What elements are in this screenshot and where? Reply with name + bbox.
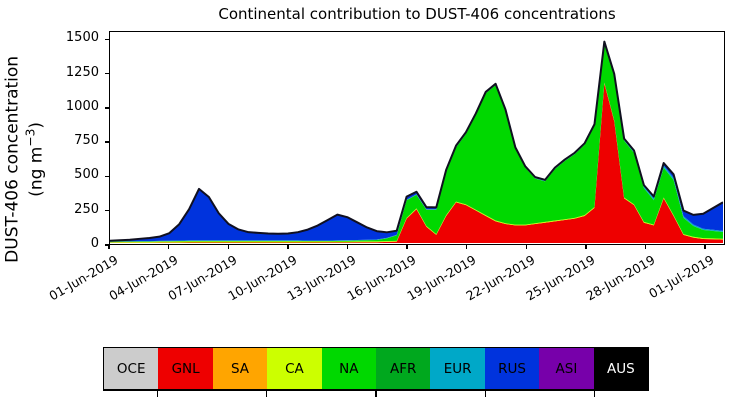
x-tick-mark [585, 245, 586, 249]
y-tick-label: 1000 [37, 99, 99, 114]
legend-tick [157, 390, 158, 397]
legend-item-oce[interactable]: OCE [104, 348, 158, 389]
legend-item-rus[interactable]: RUS [485, 348, 539, 389]
legend-tick [375, 390, 376, 397]
x-tick-mark [704, 245, 705, 249]
x-tick-mark [466, 245, 467, 249]
y-tick-label: 1500 [37, 30, 99, 45]
y-tick-label: 250 [37, 202, 99, 217]
chart-title: Continental contribution to DUST-406 con… [109, 5, 725, 23]
legend-colorbar[interactable]: OCEGNLSACANAAFREURRUSASIAUS [103, 347, 649, 390]
x-tick-mark [168, 245, 169, 249]
legend-tick [594, 390, 595, 397]
legend-item-sa[interactable]: SA [213, 348, 267, 389]
legend-item-aus[interactable]: AUS [594, 348, 648, 389]
x-tick-mark [108, 245, 109, 249]
y-tick-label: 0 [37, 236, 99, 251]
x-tick-mark [526, 245, 527, 249]
x-tick-mark [406, 245, 407, 249]
legend-item-gnl[interactable]: GNL [158, 348, 212, 389]
y-tick-label: 750 [37, 133, 99, 148]
y-tick-label: 500 [37, 167, 99, 182]
figure-canvas: Continental contribution to DUST-406 con… [0, 0, 739, 402]
y-tick-label: 1250 [37, 65, 99, 80]
legend-item-ca[interactable]: CA [267, 348, 321, 389]
legend-tick-marks [103, 390, 649, 398]
legend-item-afr[interactable]: AFR [376, 348, 430, 389]
legend-tick [485, 390, 486, 397]
legend-item-eur[interactable]: EUR [430, 348, 484, 389]
stacked-area-plot [110, 32, 723, 243]
legend-tick [266, 390, 267, 397]
legend-item-asi[interactable]: ASI [539, 348, 593, 389]
x-tick-mark [228, 245, 229, 249]
x-tick-mark [347, 245, 348, 249]
legend-item-na[interactable]: NA [322, 348, 376, 389]
x-tick-mark [287, 245, 288, 249]
y-axis-label-line1: DUST-406 concentration [3, 56, 23, 263]
x-tick-mark [645, 245, 646, 249]
plot-area [109, 31, 725, 245]
